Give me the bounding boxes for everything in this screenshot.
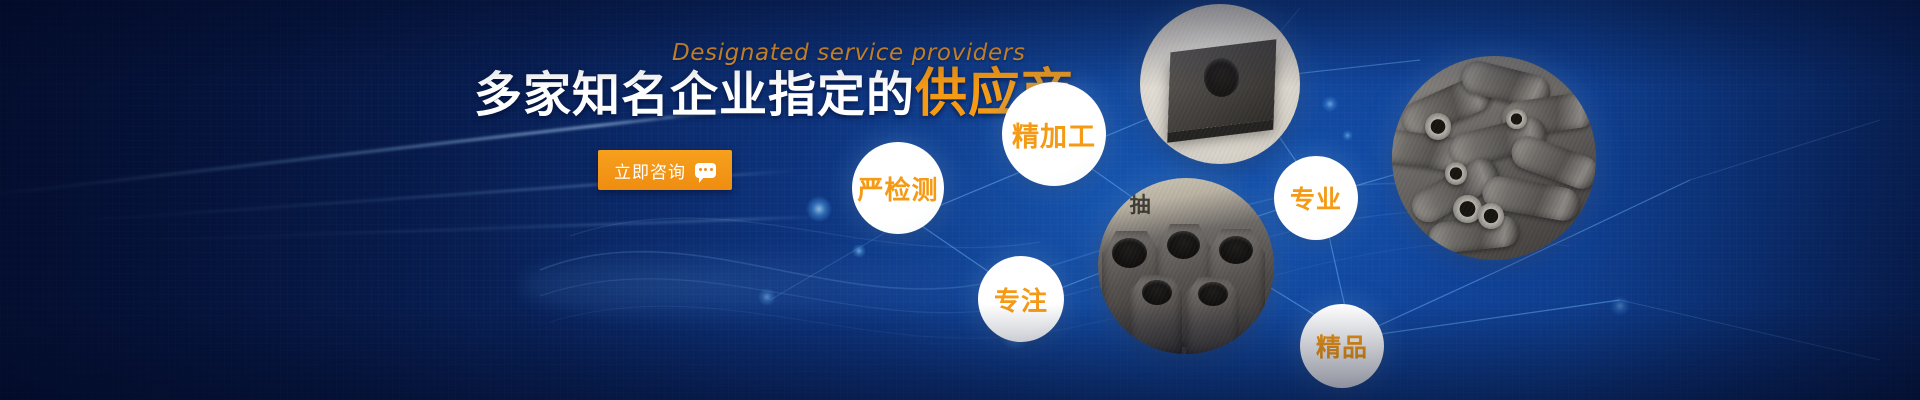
headline-white-part: 多家知名企业指定的 xyxy=(474,67,915,123)
plate-photo-inner xyxy=(1140,4,1300,164)
bubble-professional-label: 专业 xyxy=(1290,180,1342,216)
tagline: Designated service providers xyxy=(672,40,1025,66)
hex-nut-hole xyxy=(1167,231,1200,259)
bubble-fine-machining[interactable]: 精加工 xyxy=(1002,82,1106,186)
headline-block: Designated service providers 多家知名企业指定的供应… xyxy=(0,0,1000,400)
promo-banner: Designated service providers 多家知名企业指定的供应… xyxy=(0,0,1920,400)
bubble-strict-testing[interactable]: 严检测 xyxy=(852,142,944,234)
steel-plate-hole xyxy=(1204,58,1239,96)
tube-end-ring xyxy=(1445,162,1467,184)
tube-end-ring xyxy=(1506,109,1526,129)
glow-dot xyxy=(1342,130,1353,141)
tube-end-ring xyxy=(1425,113,1452,140)
chat-bubble-icon xyxy=(695,163,716,178)
consult-now-button[interactable]: 立即咨询 xyxy=(598,150,732,190)
photo-hex-nuts[interactable]: 抽 xyxy=(1098,178,1274,354)
page-title: 多家知名企业指定的供应商 xyxy=(474,68,1074,120)
tubes-photo-inner xyxy=(1392,56,1596,260)
bubble-fine-machining-label: 精加工 xyxy=(1012,115,1096,154)
hex-nut-hole xyxy=(1142,280,1172,305)
glow-dot xyxy=(1610,296,1630,316)
photo-steel-tubes[interactable] xyxy=(1392,56,1596,260)
bubble-premium-label: 精品 xyxy=(1316,328,1368,364)
glow-dot xyxy=(1322,96,1338,112)
bubble-strict-testing-label: 严检测 xyxy=(857,170,938,207)
hex-nut-hole xyxy=(1219,236,1252,264)
bubble-focused[interactable]: 专注 xyxy=(978,256,1064,342)
bubble-focused-label: 专注 xyxy=(994,281,1048,318)
bubble-professional[interactable]: 专业 xyxy=(1274,156,1358,240)
bubble-premium[interactable]: 精品 xyxy=(1300,304,1384,388)
photo-watermark: 抽 xyxy=(1130,189,1154,219)
consult-now-label: 立即咨询 xyxy=(614,158,686,183)
hex-photo-inner: 抽 xyxy=(1098,178,1274,354)
photo-square-plate[interactable] xyxy=(1140,4,1300,164)
hex-nut-hole xyxy=(1112,238,1147,268)
